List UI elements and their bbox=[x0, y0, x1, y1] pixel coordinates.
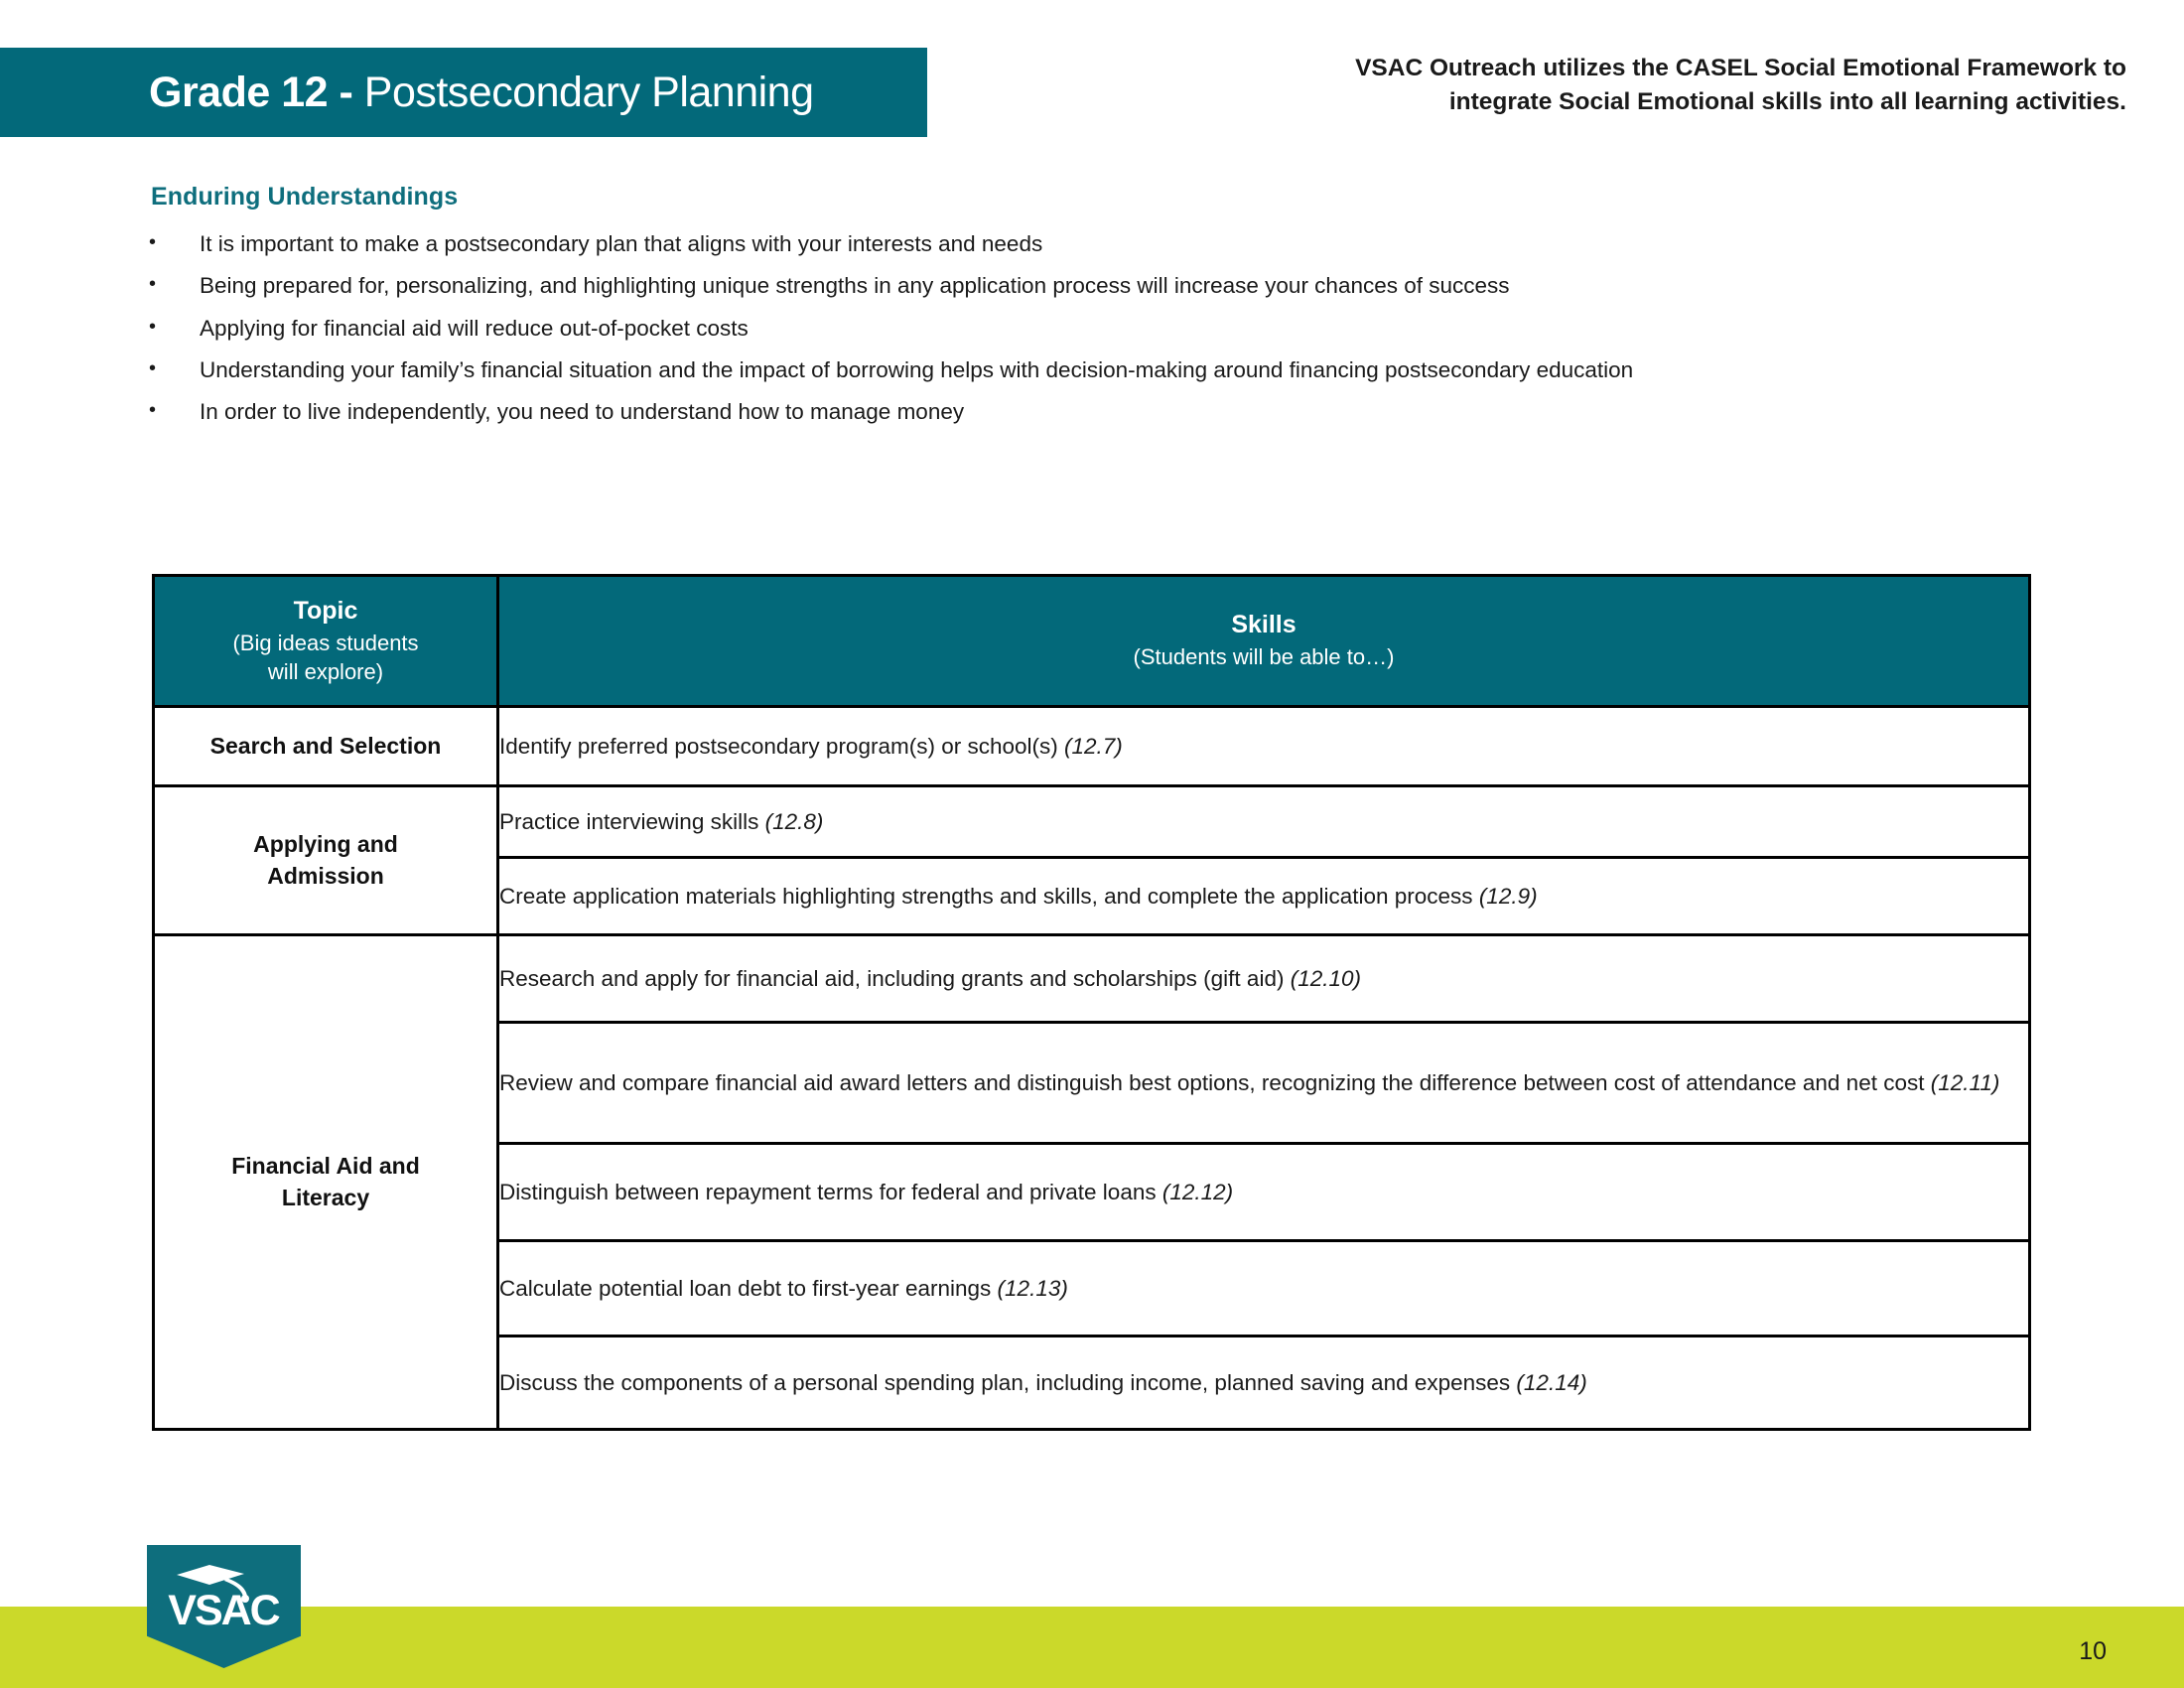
topic-label-line2: Literacy bbox=[155, 1183, 496, 1213]
skill-text: Create application materials highlightin… bbox=[499, 884, 1479, 909]
table-row: Financial Aid and Literacy Research and … bbox=[154, 935, 2030, 1023]
list-item: • It is important to make a postsecondar… bbox=[144, 230, 2050, 258]
svg-text:VSAC: VSAC bbox=[168, 1587, 279, 1634]
skill-text: Research and apply for financial aid, in… bbox=[499, 966, 1291, 991]
bullet-icon: • bbox=[144, 315, 200, 343]
topic-label-line2: Admission bbox=[155, 861, 496, 892]
column-header-topic: Topic (Big ideas students will explore) bbox=[154, 576, 498, 707]
table-row: Search and Selection Identify preferred … bbox=[154, 707, 2030, 786]
column-header-skills-sub: (Students will be able to…) bbox=[499, 643, 2028, 672]
column-header-topic-title: Topic bbox=[155, 596, 496, 627]
casel-framework-note: VSAC Outreach utilizes the CASEL Social … bbox=[1193, 52, 2126, 119]
column-header-skills: Skills (Students will be able to…) bbox=[498, 576, 2030, 707]
skill-text: Review and compare financial aid award l… bbox=[499, 1070, 1931, 1095]
skill-code: (12.7) bbox=[1064, 734, 1123, 759]
enduring-understandings-list: • It is important to make a postsecondar… bbox=[144, 230, 2050, 441]
casel-framework-note-line1: VSAC Outreach utilizes the CASEL Social … bbox=[1193, 52, 2126, 85]
list-item: • Applying for financial aid will reduce… bbox=[144, 315, 2050, 343]
skill-cell: Calculate potential loan debt to first-y… bbox=[498, 1241, 2030, 1336]
topic-cell-applying-and-admission: Applying and Admission bbox=[154, 786, 498, 935]
page-title-banner: Grade 12 - Postsecondary Planning bbox=[0, 48, 927, 137]
skill-text: Discuss the components of a personal spe… bbox=[499, 1370, 1516, 1395]
footer-bar: 10 bbox=[0, 1607, 2184, 1688]
skill-text: Practice interviewing skills bbox=[499, 809, 765, 834]
list-item: • Being prepared for, personalizing, and… bbox=[144, 272, 2050, 300]
skill-text: Calculate potential loan debt to first-y… bbox=[499, 1276, 998, 1301]
list-item-text: Being prepared for, personalizing, and h… bbox=[200, 272, 2050, 300]
bullet-icon: • bbox=[144, 398, 200, 426]
list-item-text: Applying for financial aid will reduce o… bbox=[200, 315, 2050, 343]
page-title-subject: Postsecondary Planning bbox=[364, 69, 814, 116]
column-header-skills-title: Skills bbox=[499, 610, 2028, 640]
skill-cell: Distinguish between repayment terms for … bbox=[498, 1144, 2030, 1241]
topic-skills-table: Topic (Big ideas students will explore) … bbox=[152, 574, 2031, 1431]
skill-code: (12.10) bbox=[1291, 966, 1361, 991]
table-header-row: Topic (Big ideas students will explore) … bbox=[154, 576, 2030, 707]
skill-cell: Create application materials highlightin… bbox=[498, 858, 2030, 935]
topic-cell-financial-aid-and-literacy: Financial Aid and Literacy bbox=[154, 935, 498, 1430]
list-item-text: In order to live independently, you need… bbox=[200, 398, 2050, 426]
skill-cell: Practice interviewing skills (12.8) bbox=[498, 786, 2030, 858]
topic-label: Search and Selection bbox=[155, 731, 496, 762]
skill-text: Distinguish between repayment terms for … bbox=[499, 1180, 1162, 1204]
bullet-icon: • bbox=[144, 356, 200, 384]
skill-code: (12.13) bbox=[998, 1276, 1068, 1301]
skill-cell: Discuss the components of a personal spe… bbox=[498, 1336, 2030, 1430]
bullet-icon: • bbox=[144, 230, 200, 258]
skill-text: Identify preferred postsecondary program… bbox=[499, 734, 1064, 759]
skill-cell: Review and compare financial aid award l… bbox=[498, 1023, 2030, 1144]
skill-cell: Research and apply for financial aid, in… bbox=[498, 935, 2030, 1023]
topic-label-line1: Applying and bbox=[155, 829, 496, 860]
topic-cell-search-and-selection: Search and Selection bbox=[154, 707, 498, 786]
table-row: Applying and Admission Practice intervie… bbox=[154, 786, 2030, 858]
casel-framework-note-line2: integrate Social Emotional skills into a… bbox=[1193, 85, 2126, 119]
list-item-text: Understanding your family’s financial si… bbox=[200, 356, 2050, 384]
page-title-grade: Grade 12 - bbox=[149, 69, 364, 116]
page-number: 10 bbox=[2079, 1637, 2107, 1666]
skill-code: (12.14) bbox=[1516, 1370, 1586, 1395]
topic-label-line1: Financial Aid and bbox=[155, 1151, 496, 1182]
list-item: • In order to live independently, you ne… bbox=[144, 398, 2050, 426]
page-title: Grade 12 - Postsecondary Planning bbox=[149, 71, 814, 114]
skill-code: (12.8) bbox=[765, 809, 824, 834]
list-item-text: It is important to make a postsecondary … bbox=[200, 230, 2050, 258]
skill-cell: Identify preferred postsecondary program… bbox=[498, 707, 2030, 786]
bullet-icon: • bbox=[144, 272, 200, 300]
skill-code: (12.9) bbox=[1479, 884, 1538, 909]
enduring-understandings-heading: Enduring Understandings bbox=[151, 183, 458, 211]
skill-code: (12.12) bbox=[1162, 1180, 1233, 1204]
column-header-topic-sub-line2: will explore) bbox=[155, 658, 496, 687]
skill-code: (12.11) bbox=[1931, 1070, 2000, 1095]
list-item: • Understanding your family’s financial … bbox=[144, 356, 2050, 384]
column-header-topic-sub-line1: (Big ideas students bbox=[155, 630, 496, 658]
